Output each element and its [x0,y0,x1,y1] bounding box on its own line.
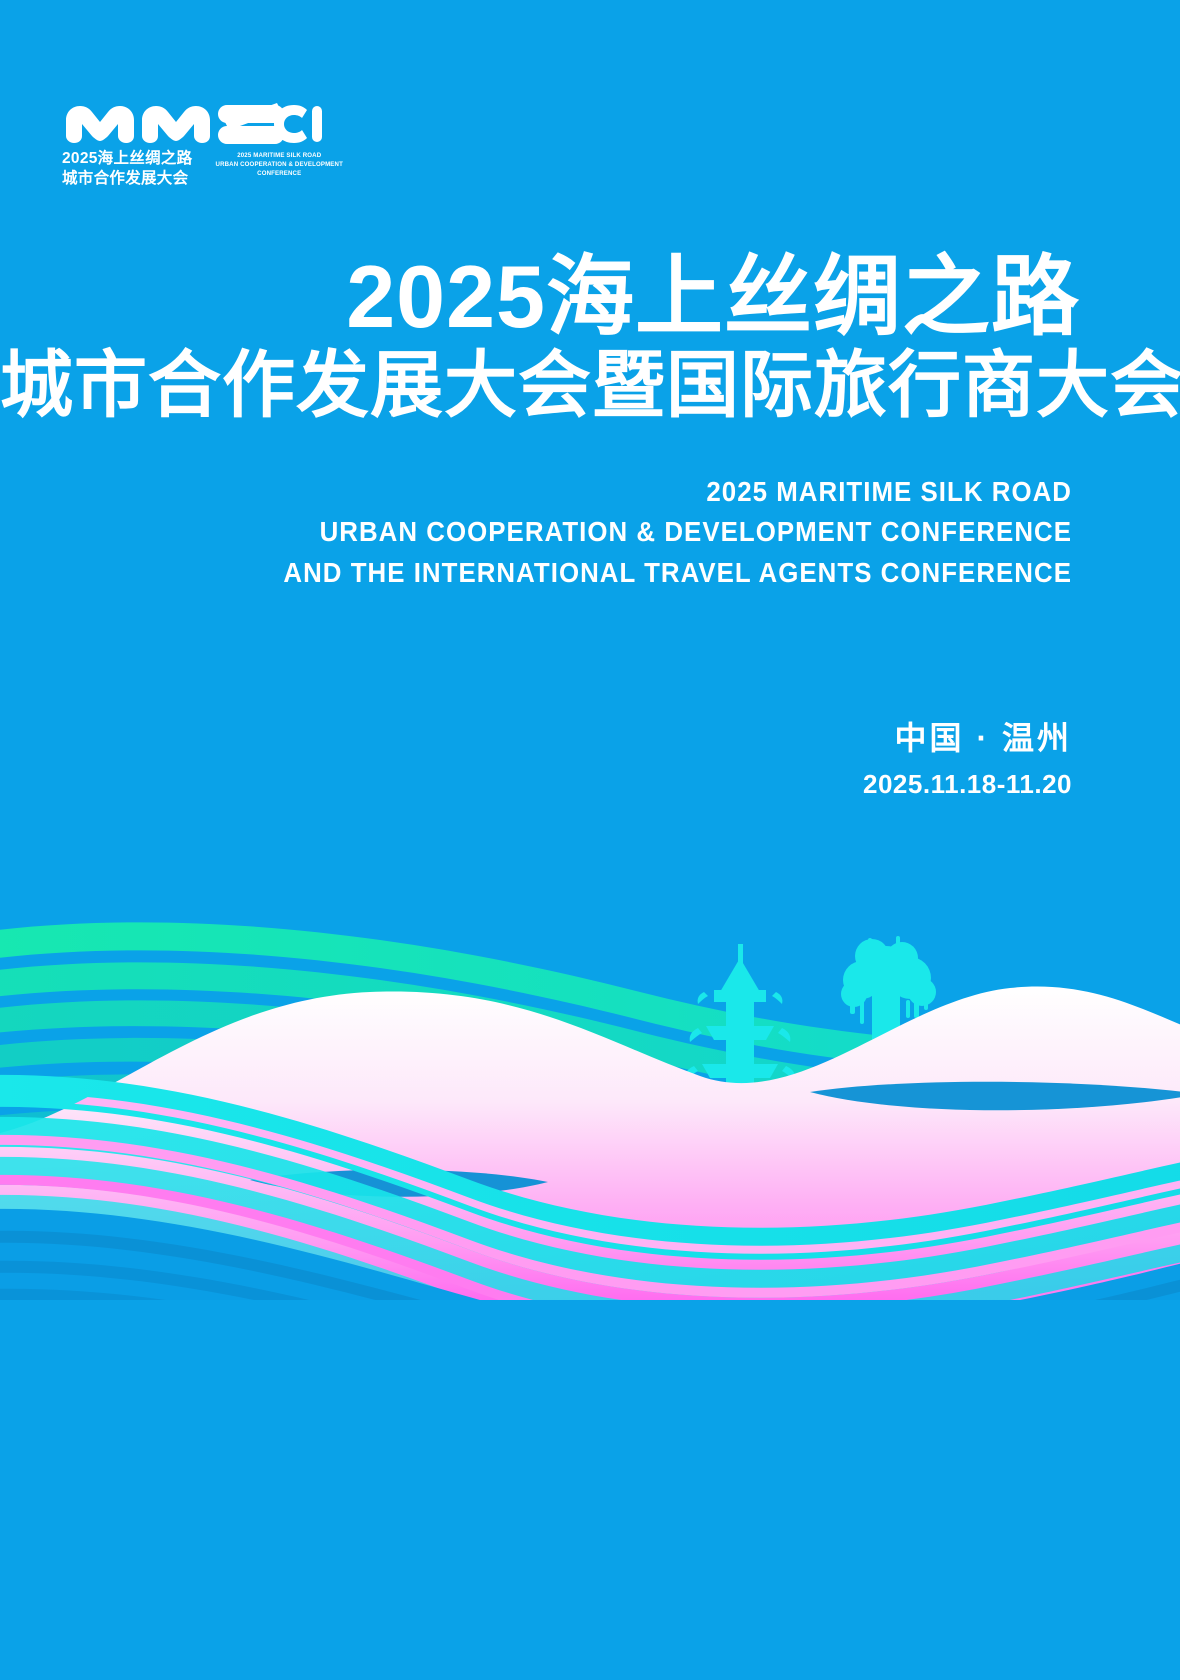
subtitle-line-2: URBAN COOPERATION & DEVELOPMENT CONFEREN… [64,512,1072,552]
logo-english-line-2: URBAN COOPERATION & DEVELOPMENT [206,160,352,169]
wave-artwork [0,880,1180,1300]
event-location: 中国 · 温州 [0,718,1072,760]
page-title: 2025海上丝绸之路 城市合作发展大会暨国际旅行商大会 [0,252,1180,426]
event-meta: 中国 · 温州 2025.11.18-11.20 [0,718,1180,802]
logo-chinese-text: 2025海上丝绸之路 城市合作发展大会 [62,149,192,189]
subtitle-line-3: AND THE INTERNATIONAL TRAVEL AGENTS CONF… [64,553,1072,593]
logo-chinese-line-1: 2025海上丝绸之路 [62,149,192,169]
event-date: 2025.11.18-11.20 [0,766,1072,802]
logo-english-text: 2025 MARITIME SILK ROAD URBAN COOPERATIO… [206,151,352,178]
logo-mark-icon [62,86,330,144]
title-line-1: 2025海上丝绸之路 [0,252,1080,343]
event-logo: 2025海上丝绸之路 城市合作发展大会 2025 MARITIME SILK R… [62,86,352,189]
logo-chinese-line-2: 城市合作发展大会 [62,169,192,189]
wave-illustration [0,880,1180,1300]
poster-canvas: 2025海上丝绸之路 城市合作发展大会 2025 MARITIME SILK R… [0,0,1180,1680]
subtitle: 2025 MARITIME SILK ROAD URBAN COOPERATIO… [0,472,1180,593]
logo-english-line-1: 2025 MARITIME SILK ROAD [206,151,352,160]
subtitle-line-1: 2025 MARITIME SILK ROAD [64,472,1072,512]
logo-english-line-3: CONFERENCE [206,169,352,178]
title-line-2: 城市合作发展大会暨国际旅行商大会 [0,345,1080,427]
